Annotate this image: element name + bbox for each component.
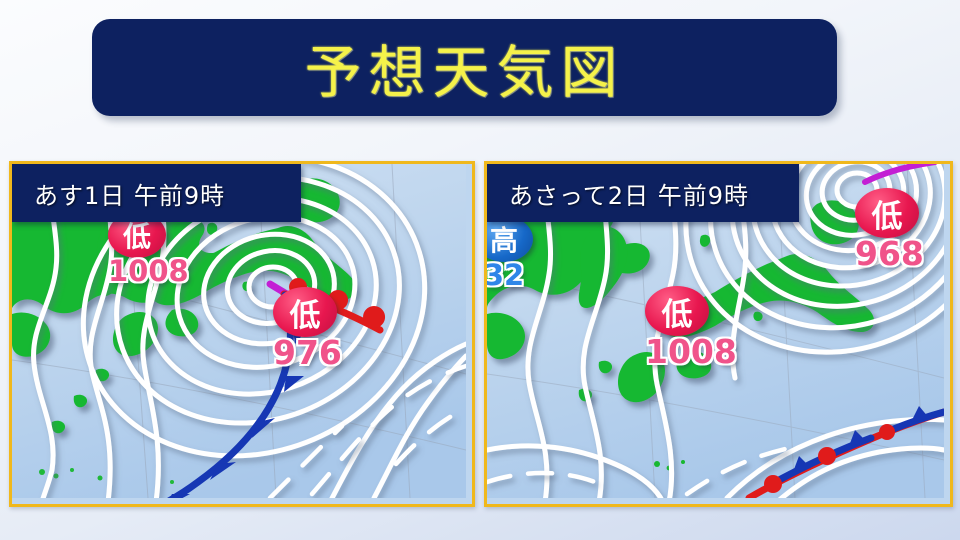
time-label-text: あさって2日 午前9時 (509, 176, 749, 211)
pressure-marker-low-1008[interactable]: 低 1008 (645, 286, 737, 371)
low-pressure-symbol: 低 (273, 287, 337, 337)
low-pressure-symbol: 低 (645, 286, 709, 336)
time-label-tomorrow: あす1日 午前9時 (12, 164, 301, 222)
forecast-panel-tomorrow[interactable]: あす1日 午前9時 低 1008 低 976 (9, 161, 475, 507)
pressure-value: 1008 (645, 332, 737, 371)
pressure-value: 1008 (108, 254, 189, 288)
pressure-value: 976 (273, 333, 342, 372)
pressure-marker-high-1032[interactable]: 高 32 (484, 216, 533, 292)
time-label-text: あす1日 午前9時 (34, 176, 225, 211)
weather-forecast-screen: 予想天気図 (0, 0, 960, 540)
pressure-value: 968 (855, 234, 924, 273)
pressure-marker-low-976[interactable]: 低 976 (273, 287, 342, 372)
time-label-day-after: あさって2日 午前9時 (487, 164, 799, 222)
low-pressure-symbol: 低 (855, 188, 919, 238)
high-pressure-symbol: 高 (484, 216, 533, 262)
pressure-marker-low-968[interactable]: 低 968 (855, 188, 924, 273)
pressure-value: 32 (484, 258, 533, 292)
forecast-panel-day-after[interactable]: あさって2日 午前9時 高 32 低 1008 低 968 (484, 161, 953, 507)
page-title: 予想天気図 (305, 27, 625, 109)
page-title-bar: 予想天気図 (92, 19, 837, 116)
pressure-marker-low-1008[interactable]: 低 1008 (108, 212, 189, 288)
